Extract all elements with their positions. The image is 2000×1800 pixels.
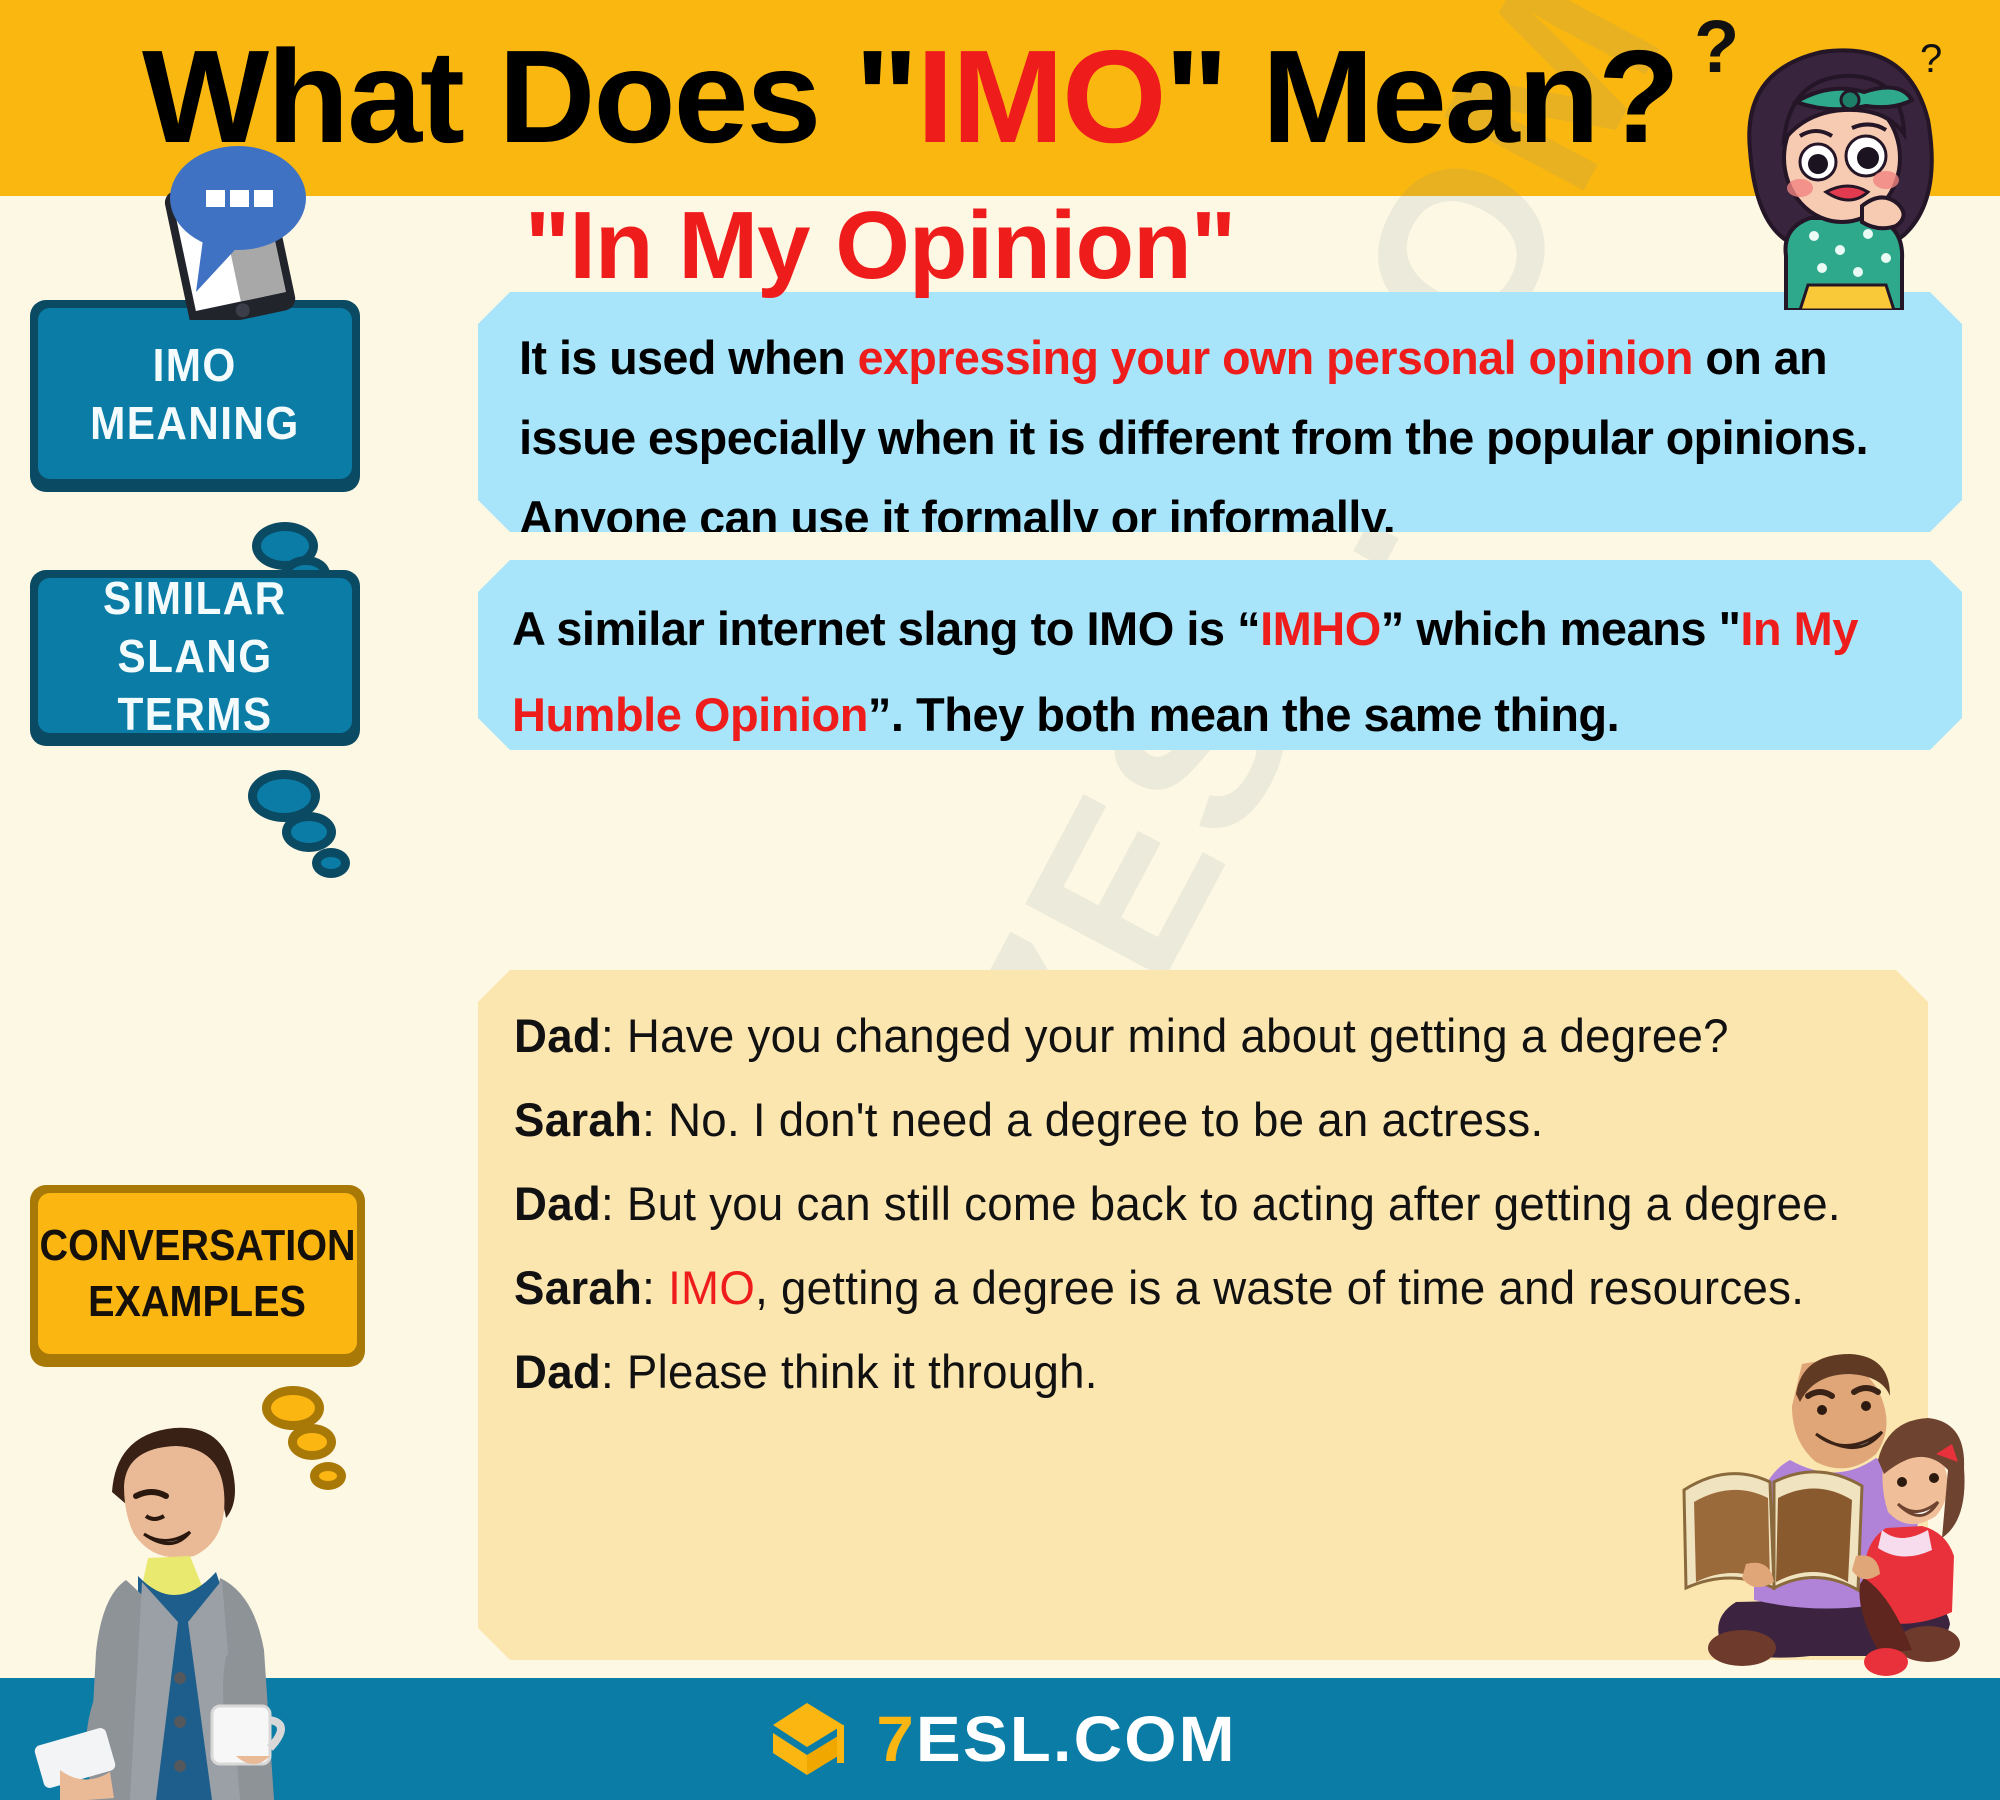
imo-meaning-text: It is used when expressing your own pers… [519, 318, 1925, 558]
text-run-2: ” which means " [1381, 602, 1741, 655]
label-line-1: IMO [153, 336, 237, 394]
graduation-cap-logo-icon [771, 1699, 859, 1779]
father-and-daughter-reading-illustration [1650, 1350, 2000, 1690]
label-line-1: CONVERSATION [39, 1218, 355, 1274]
conversation-separator: : [601, 1177, 614, 1230]
label-line-1: SIMILAR [103, 569, 287, 627]
label-line-2: SLANG TERMS [51, 627, 340, 743]
label-line-2: MEANING [90, 394, 300, 452]
logo-seven: 7 [877, 1703, 916, 1775]
title-part-highlight: IMO [916, 23, 1164, 170]
label-conversation-examples: CONVERSATION EXAMPLES [30, 1185, 365, 1367]
conversation-line: Dad: Have you changed your mind about ge… [514, 994, 1856, 1078]
conversation-speaker: Sarah [514, 1093, 642, 1146]
thought-bubble-medium-2 [282, 812, 336, 852]
text-run-0: A similar internet slang to IMO is “ [512, 602, 1260, 655]
conversation-line: Sarah: No. I don't need a degree to be a… [514, 1078, 1856, 1162]
similar-slang-text: A similar internet slang to IMO is “IMHO… [512, 586, 1932, 758]
text-run-4: ”. They both mean the same thing. [868, 688, 1619, 741]
conversation-text-run-0: But you can still come back to acting af… [614, 1177, 1841, 1230]
conversation-separator: : [642, 1093, 655, 1146]
conversation-text-run-0: Have you changed your mind about getting… [614, 1009, 1729, 1062]
conversation-text-run-0: Please think it through. [614, 1345, 1098, 1398]
label-similar-slang-terms: SIMILAR SLANG TERMS [30, 570, 360, 746]
conversation-separator: : [642, 1261, 655, 1314]
conversation-line: Dad: But you can still come back to acti… [514, 1162, 1856, 1246]
text-run-1: IMHO [1260, 602, 1381, 655]
conversation-speaker: Dad [514, 1009, 601, 1062]
thinking-girl-illustration: ? ? [1690, 10, 1990, 310]
label-imo-meaning: IMO MEANING [30, 300, 360, 492]
conversation-line: Sarah: IMO, getting a degree is a waste … [514, 1246, 1856, 1330]
conversation-text-run-2: , getting a degree is a waste of time an… [755, 1261, 1804, 1314]
conversation-separator: : [601, 1345, 614, 1398]
conversation-speaker: Dad [514, 1345, 601, 1398]
conversation-text-run-0 [655, 1261, 668, 1314]
text-run-1: expressing your own personal opinion [858, 331, 1693, 384]
thought-bubble-small-2 [312, 848, 350, 878]
conversation-separator: : [601, 1009, 614, 1062]
logo-text: 7ESL.COM [877, 1702, 1237, 1776]
infographic-page: 7ESL.COM What Does "IMO" Mean? "In My Op… [0, 0, 2000, 1800]
text-run-0: It is used when [519, 331, 858, 384]
title-part-3: " Mean? [1165, 23, 1678, 170]
logo-rest: ESL.COM [916, 1703, 1237, 1775]
svg-text:?: ? [1694, 10, 1739, 88]
conversation-text-run-0: No. I don't need a degree to be an actre… [655, 1093, 1543, 1146]
conversation-speaker: Sarah [514, 1261, 642, 1314]
content-box-imo-meaning: It is used when expressing your own pers… [478, 292, 1962, 532]
conversation-speaker: Dad [514, 1177, 601, 1230]
man-with-phone-and-coffee-illustration [30, 1400, 360, 1800]
content-box-similar-slang: A similar internet slang to IMO is “IMHO… [478, 560, 1962, 750]
phone-chat-bubble-icon [118, 140, 348, 320]
svg-text:?: ? [1920, 37, 1942, 81]
label-line-2: EXAMPLES [89, 1274, 307, 1330]
conversation-text-run-1: IMO [668, 1261, 755, 1314]
